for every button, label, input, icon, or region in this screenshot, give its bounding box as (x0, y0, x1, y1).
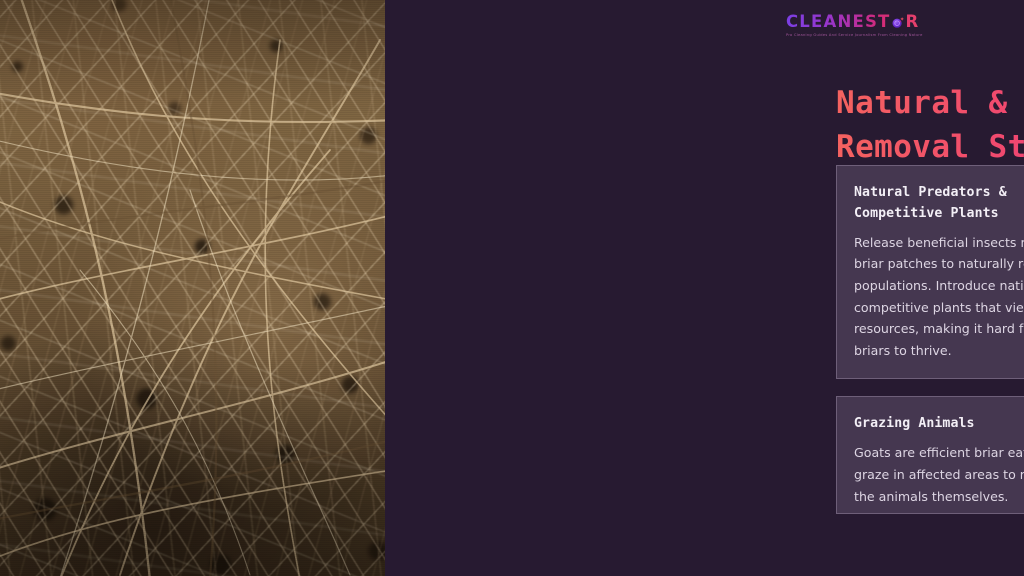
photo-grain (0, 0, 385, 576)
brand-name-part2: R (905, 14, 919, 31)
card-body: Release beneficial insects near briar pa… (854, 232, 1024, 362)
brand-logo[interactable]: CLEANEST (786, 14, 936, 37)
brand-tagline: Pro Cleaning Guides And Service Journali… (786, 34, 936, 38)
content-panel: CLEANEST (385, 0, 1024, 576)
page-title: Natural & Eco-Friendly Removal Strategie… (836, 81, 1024, 169)
strategy-card-grazing-animals[interactable]: Grazing Animals Goats are efficient bria… (836, 396, 1024, 514)
strategy-card-natural-predators[interactable]: Natural Predators & Competitive Plants R… (836, 165, 1024, 379)
page-title-line2: Removal Strategies (836, 129, 1024, 165)
card-title: Natural Predators & Competitive Plants (854, 182, 1024, 225)
briar-thicket-photo (0, 0, 385, 576)
strategy-cards-top-row: Natural Predators & Competitive Plants R… (836, 165, 1024, 379)
strategy-cards: Natural Predators & Competitive Plants R… (836, 165, 1024, 514)
card-body: Goats are efficient briar eaters; sheep … (854, 442, 1024, 507)
card-title: Grazing Animals (854, 413, 1024, 434)
brand-name-part1: CLEANEST (786, 14, 890, 31)
page-title-line1: Natural & Eco-Friendly (836, 85, 1024, 121)
droplet-sparkle-icon (891, 16, 904, 29)
slide: CLEANEST (0, 0, 1024, 576)
brand-wordmark: CLEANEST (786, 14, 936, 31)
